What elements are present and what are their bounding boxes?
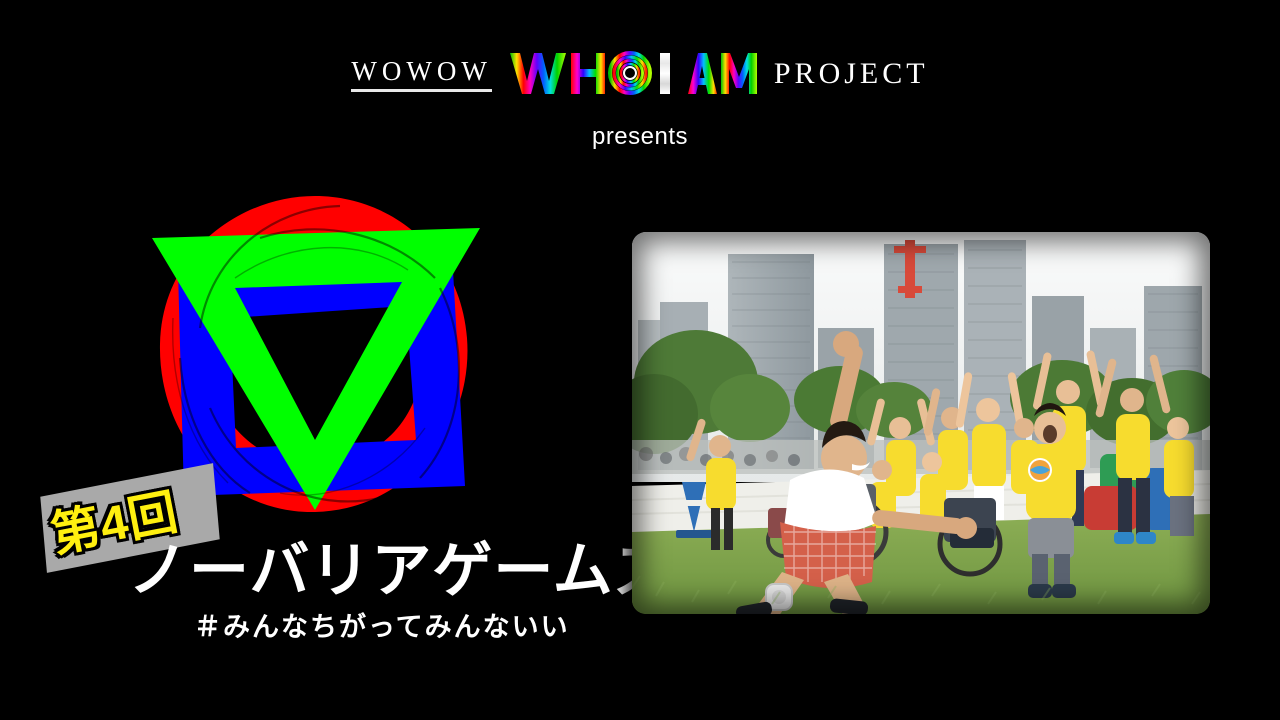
presentation-slide: WOWOW xyxy=(0,0,1280,720)
event-photo xyxy=(632,232,1210,614)
letter-o xyxy=(610,53,650,93)
program-hashtag: ＃みんなちがってみんないい xyxy=(194,610,570,644)
project-wordmark: PROJECT xyxy=(774,59,929,89)
header-logo-lockup: WOWOW xyxy=(0,44,1280,102)
letter-m xyxy=(721,53,757,94)
presents-label: presents xyxy=(0,123,1280,151)
letter-i xyxy=(660,53,670,94)
who-i-am-wordmark xyxy=(508,47,758,99)
program-title-group: 第4回 ノーバリアゲームズ ＃みんなちがってみんないい xyxy=(28,478,608,658)
page-title: ノーバリアゲームズ xyxy=(128,536,675,606)
event-photo-illustration xyxy=(632,232,1210,614)
letter-a xyxy=(688,53,717,94)
letter-w xyxy=(510,53,566,94)
wowow-wordmark: WOWOW xyxy=(351,58,491,92)
letter-h xyxy=(571,53,605,94)
who-i-am-rainbow-letters xyxy=(508,47,758,99)
